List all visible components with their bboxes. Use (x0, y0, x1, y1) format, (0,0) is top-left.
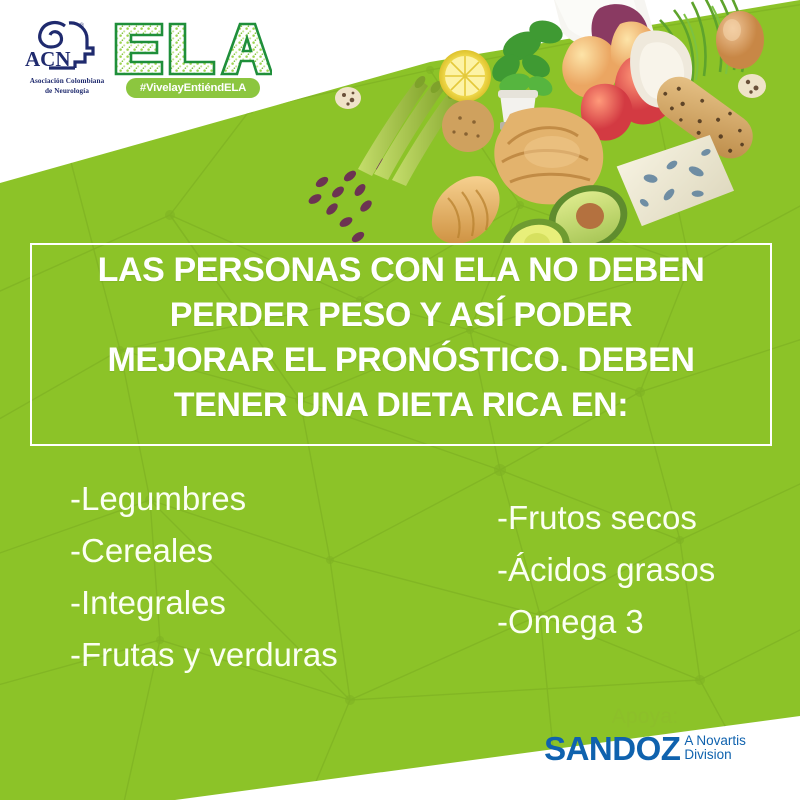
list-item: -Omega 3 (497, 596, 715, 648)
list-item: -Legumbres (70, 473, 338, 525)
acn-logo: ACN ® Asociación Colombiana de Neurologí… (18, 18, 116, 110)
ela-logo: #VivelayEntiéndELA (112, 20, 272, 104)
sponsor-footer: Apoya: SANDOZ A Novartis Division (500, 705, 790, 765)
diet-list-left-column: -Legumbres -Cereales -Integrales -Frutas… (70, 473, 338, 681)
ela-hashtag: #VivelayEntiéndELA (140, 82, 246, 94)
supporter-label: Apoya: (500, 705, 790, 729)
diet-list-right-column: -Frutos secos -Ácidos grasos -Omega 3 (497, 492, 715, 648)
sandoz-logo: SANDOZ A Novartis Division (500, 732, 790, 765)
acn-subtitle-line-2: de Neurología (18, 87, 116, 97)
acn-subtitle: Asociación Colombiana de Neurología (18, 77, 116, 96)
poster-canvas: ACN ® Asociación Colombiana de Neurologí… (0, 0, 800, 800)
list-item: -Integrales (70, 577, 338, 629)
ela-wordmark-icon (112, 20, 272, 78)
list-item: -Frutas y verduras (70, 629, 338, 681)
sandoz-tagline: A Novartis Division (684, 734, 746, 762)
registered-mark-icon: ® (79, 22, 85, 30)
acn-brain-head-icon: ACN ® (18, 18, 116, 76)
ela-hashtag-pill: #VivelayEntiéndELA (126, 78, 260, 98)
acn-subtitle-line-1: Asociación Colombiana (18, 77, 116, 87)
list-item: -Frutos secos (497, 492, 715, 544)
sandoz-wordmark: SANDOZ (544, 732, 680, 765)
headline-line-1: LAS PERSONAS CON ELA NO DEBEN (30, 248, 772, 293)
list-item: -Cereales (70, 525, 338, 577)
list-item: -Ácidos grasos (497, 544, 715, 596)
headline-line-3: MEJORAR EL PRONÓSTICO. DEBEN (30, 338, 772, 383)
headline-line-4: TENER UNA DIETA RICA EN: (30, 383, 772, 428)
headline-line-2: PERDER PESO Y ASÍ PODER (30, 293, 772, 338)
acn-acronym: ACN (25, 47, 71, 71)
sandoz-tagline-line-1: A Novartis (684, 734, 746, 748)
headline-text: LAS PERSONAS CON ELA NO DEBEN PERDER PES… (30, 248, 772, 428)
sandoz-tagline-line-2: Division (684, 748, 746, 762)
healthy-food-collage (300, 0, 800, 244)
